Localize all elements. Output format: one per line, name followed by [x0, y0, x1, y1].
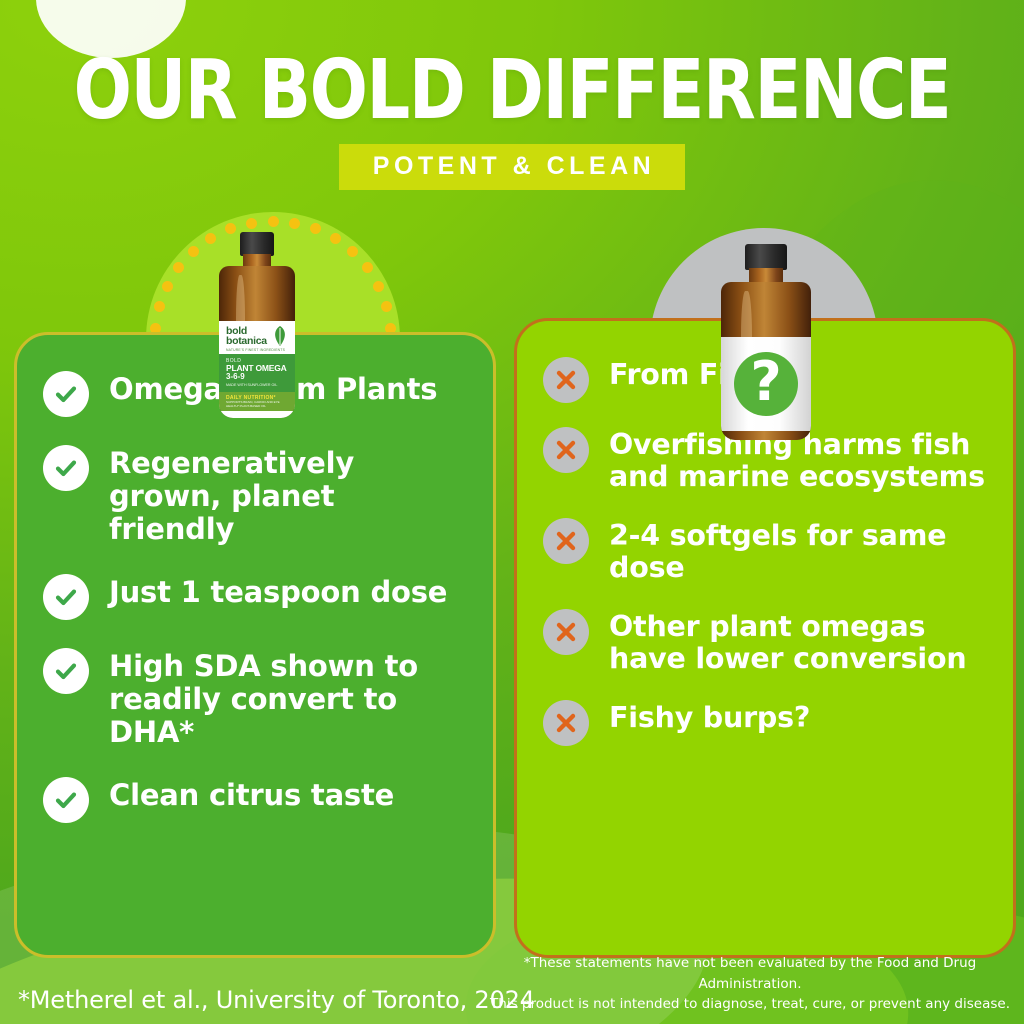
citation-footnote: *Metherel et al., University of Toronto,…: [18, 986, 535, 1014]
ring-dot: [162, 281, 173, 292]
ring-dot: [173, 262, 184, 273]
header: OUR BOLD DIFFERENCE POTENT & CLEAN: [0, 0, 1024, 190]
x-icon: [543, 357, 589, 403]
bottle-label: bold botanica NATURE'S FINEST INGREDIENT…: [219, 321, 295, 409]
x-icon: [543, 427, 589, 473]
benefits-list: Omegas from PlantsRegeneratively grown, …: [17, 335, 493, 955]
ring-dot: [381, 301, 392, 312]
promo-graphic: OUR BOLD DIFFERENCE POTENT & CLEAN bold …: [0, 0, 1024, 1024]
product-made-with: MADE WITH SUNFLOWER OIL: [226, 383, 288, 387]
benefits-panel: Omegas from PlantsRegeneratively grown, …: [14, 332, 496, 958]
list-item-label: 2-4 softgels for same dose: [609, 516, 987, 585]
x-icon: [543, 609, 589, 655]
bottle-body: ?: [721, 282, 811, 440]
product-prefix: BOLD: [226, 358, 288, 364]
check-icon: [43, 777, 89, 823]
ring-dot: [268, 216, 279, 227]
subtitle-badge: POTENT & CLEAN: [339, 144, 685, 190]
leaf-icon: [270, 325, 290, 347]
fda-disclaimer-line-1: *These statements have not been evaluate…: [490, 953, 1010, 994]
ring-dot: [347, 246, 358, 257]
blank-bottle-label: ?: [721, 337, 811, 430]
ring-dot: [154, 301, 165, 312]
bold-botanica-bottle: bold botanica NATURE'S FINEST INGREDIENT…: [215, 232, 299, 418]
fda-disclaimer-line-2: This product is not intended to diagnose…: [490, 994, 1010, 1014]
ring-dot: [330, 233, 341, 244]
bottle-cap: [745, 244, 787, 270]
list-item: Other plant omegas have lower conversion: [543, 607, 987, 676]
x-icon: [543, 700, 589, 746]
ring-dot: [246, 218, 257, 229]
bottle-cap: [240, 232, 274, 256]
fda-disclaimer: *These statements have not been evaluate…: [490, 953, 1010, 1014]
badge-wrapper: POTENT & CLEAN: [0, 144, 1024, 190]
list-item-label: Other plant omegas have lower conversion: [609, 607, 987, 676]
list-item-label: Clean citrus taste: [109, 775, 394, 812]
ring-dot: [362, 262, 373, 273]
label-size: 4 FL OZ (120 mL): [225, 413, 243, 418]
ring-dot: [289, 218, 300, 229]
check-icon: [43, 648, 89, 694]
ring-dot: [310, 223, 321, 234]
label-footer-block: 4 FL OZ (120 mL) DIETARY SUPPLEMENT (24 …: [219, 411, 295, 418]
list-item: Just 1 teaspoon dose: [43, 572, 467, 620]
list-item: Clean citrus taste: [43, 775, 467, 823]
ring-dot: [188, 246, 199, 257]
product-numbers: 3-6-9: [226, 373, 288, 381]
page-title: OUR BOLD DIFFERENCE: [36, 0, 988, 130]
generic-fish-oil-bottle: ?: [718, 244, 814, 440]
list-item-label: Just 1 teaspoon dose: [109, 572, 447, 609]
list-item-label: Regeneratively grown, planet friendly: [109, 443, 467, 546]
list-item: Fishy burps?: [543, 698, 987, 746]
check-icon: [43, 371, 89, 417]
list-item: Regeneratively grown, planet friendly: [43, 443, 467, 546]
list-item-label: Fishy burps?: [609, 698, 810, 734]
check-icon: [43, 445, 89, 491]
brand-tagline: NATURE'S FINEST INGREDIENTS: [226, 348, 289, 352]
bottle-body: bold botanica NATURE'S FINEST INGREDIENT…: [219, 266, 295, 418]
label-product-block: BOLD PLANT OMEGA 3-6-9 MADE WITH SUNFLOW…: [219, 354, 295, 392]
list-item: High SDA shown to readily convert to DHA…: [43, 646, 467, 749]
question-mark-badge: ?: [734, 352, 798, 416]
list-item: 2-4 softgels for same dose: [543, 516, 987, 585]
check-icon: [43, 574, 89, 620]
label-brand-block: bold botanica NATURE'S FINEST INGREDIENT…: [219, 321, 295, 354]
label-fine-print: SUPPORTS BRAIN, CARDIO AND EYE HEALTH* P…: [226, 401, 288, 409]
question-mark-icon: ?: [750, 355, 781, 409]
x-icon: [543, 518, 589, 564]
ring-dot: [373, 281, 384, 292]
label-daily-block: DAILY NUTRITION* SUPPORTS BRAIN, CARDIO …: [219, 392, 295, 412]
list-item-label: High SDA shown to readily convert to DHA…: [109, 646, 467, 749]
